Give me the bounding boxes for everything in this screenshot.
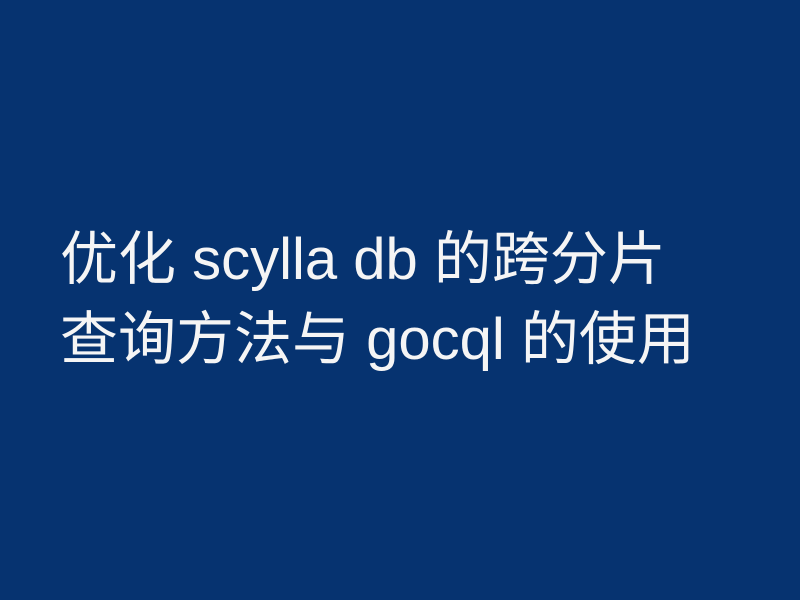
slide-title: 优化 scylla db 的跨分片查询方法与 gocql 的使用 [60, 220, 700, 380]
slide-canvas: 优化 scylla db 的跨分片查询方法与 gocql 的使用 [0, 0, 800, 600]
title-block: 优化 scylla db 的跨分片查询方法与 gocql 的使用 [0, 220, 800, 380]
